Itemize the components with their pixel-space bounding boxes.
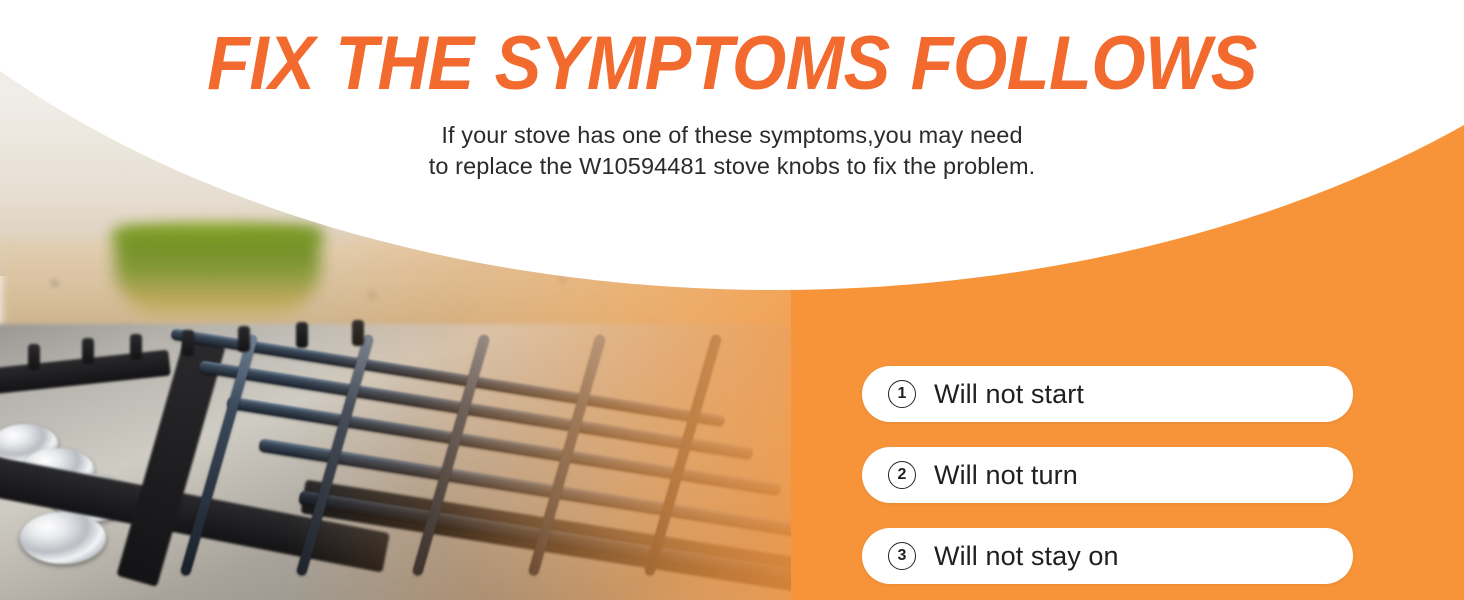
symptom-label: Will not start xyxy=(934,379,1084,410)
symptom-item-3[interactable]: 3 Will not stay on xyxy=(862,528,1353,584)
banner-subtitle: If your stove has one of these symptoms,… xyxy=(0,102,1464,182)
symptom-label: Will not stay on xyxy=(934,541,1119,572)
symptom-label: Will not turn xyxy=(934,460,1078,491)
symptom-item-2[interactable]: 2 Will not turn xyxy=(862,447,1353,503)
circled-number-icon: 1 xyxy=(888,380,916,408)
banner-header: FIX THE SYMPTOMS FOLLOWS If your stove h… xyxy=(0,0,1464,182)
symptom-item-1[interactable]: 1 Will not start xyxy=(862,366,1353,422)
page-title: FIX THE SYMPTOMS FOLLOWS xyxy=(59,0,1406,102)
subtitle-line-2: to replace the W10594481 stove knobs to … xyxy=(0,151,1464,182)
subtitle-line-1: If your stove has one of these symptoms,… xyxy=(0,120,1464,151)
symptom-list: 1 Will not start 2 Will not turn 3 Will … xyxy=(862,366,1353,584)
promo-banner: FIX THE SYMPTOMS FOLLOWS If your stove h… xyxy=(0,0,1464,600)
circled-number-icon: 2 xyxy=(888,461,916,489)
circled-number-icon: 3 xyxy=(888,542,916,570)
